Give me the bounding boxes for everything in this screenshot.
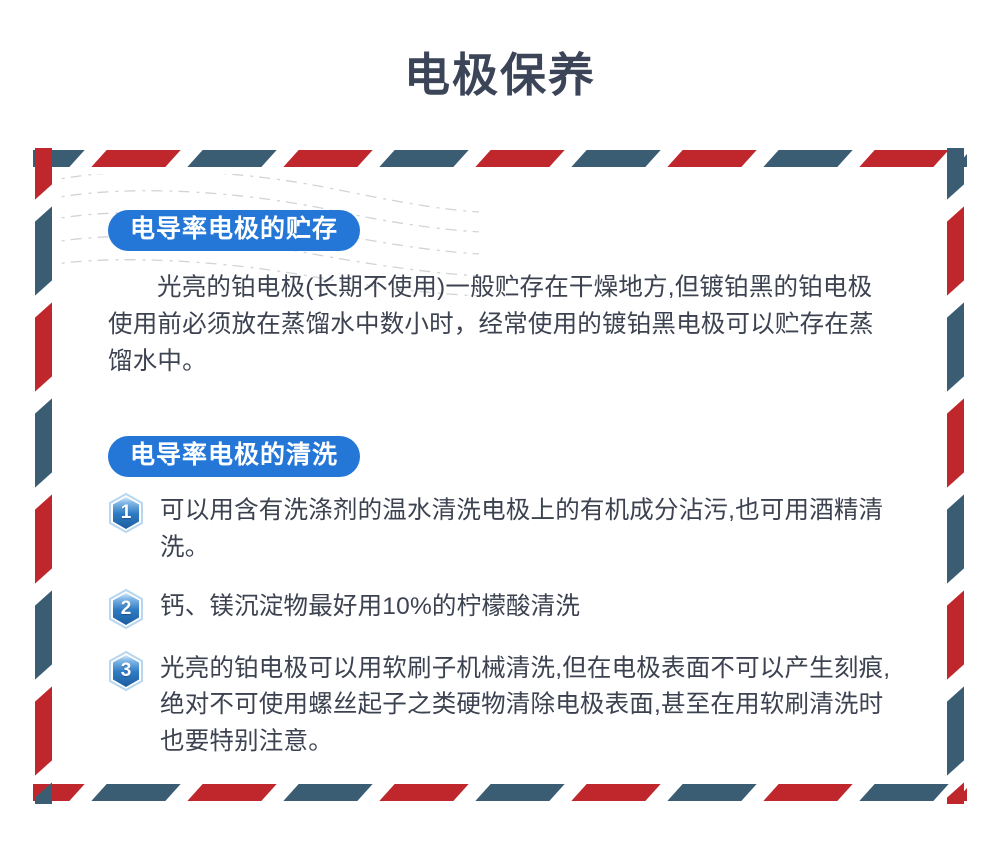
hexagon-number-icon: 2 [108,589,144,629]
hexagon-number-icon: 3 [108,651,144,691]
airmail-stripe [91,784,180,801]
airmail-stripe [947,206,964,295]
section-cleaning-badge: 电导率电极的清洗 [108,436,360,477]
airmail-stripe [35,590,52,679]
airmail-stripe [763,784,852,801]
airmail-stripe [947,302,964,391]
card-inner: 电导率电极的贮存 光亮的铂电极(长期不使用)一般贮存在干燥地方,但镀铂黑的铂电极… [59,174,941,778]
step-text: 钙、镁沉淀物最好用10%的柠檬酸清洗 [160,587,580,626]
airmail-stripe [859,784,948,801]
cleaning-steps-list: 1 可以用含有洗涤剂的温水清洗电极上的有机成分沾污,也可用酒精清洗。 2 [108,491,901,761]
airmail-stripe [947,494,964,583]
airmail-stripe [35,494,52,583]
airmail-stripe [947,686,964,775]
airmail-stripe [667,150,756,167]
step-text: 光亮的铂电极可以用软刷子机械清洗,但在电极表面不可以产生刻痕,绝对不可使用螺丝起… [160,649,901,761]
airmail-stripe [35,302,52,391]
list-item: 3 光亮的铂电极可以用软刷子机械清洗,但在电极表面不可以产生刻痕,绝对不可使用螺… [108,649,901,761]
airmail-stripe [187,150,276,167]
section-storage-badge: 电导率电极的贮存 [108,210,360,251]
airmail-stripe [475,784,564,801]
poster-page: 电极保养 电导率电极的贮存 光亮的铂电极(长期不使用)一般 [0,0,1000,868]
page-title: 电极保养 [0,48,1000,103]
airmail-border-top [33,148,967,170]
airmail-stripe [35,686,52,775]
airmail-stripe [947,782,964,804]
hexagon-number-icon: 1 [108,493,144,533]
airmail-stripe [859,150,948,167]
airmail-stripe [571,784,660,801]
airmail-stripe [763,150,852,167]
airmail-stripe [379,150,468,167]
content-card: 电导率电极的贮存 光亮的铂电极(长期不使用)一般贮存在干燥地方,但镀铂黑的铂电极… [33,148,967,804]
airmail-stripe [379,784,468,801]
airmail-stripe [947,398,964,487]
airmail-stripe [91,150,180,167]
section-storage-paragraph: 光亮的铂电极(长期不使用)一般贮存在干燥地方,但镀铂黑的铂电极使用前必须放在蒸馏… [108,269,901,381]
section-storage: 电导率电极的贮存 光亮的铂电极(长期不使用)一般贮存在干燥地方,但镀铂黑的铂电极… [108,210,901,380]
airmail-border-right [945,148,967,804]
airmail-stripe [35,206,52,295]
airmail-stripe [187,784,276,801]
section-cleaning: 电导率电极的清洗 [108,436,901,761]
airmail-stripe [35,782,52,804]
step-text: 可以用含有洗涤剂的温水清洗电极上的有机成分沾污,也可用酒精清洗。 [160,491,901,567]
step-number: 3 [108,651,144,691]
airmail-stripe [35,398,52,487]
airmail-border-bottom [33,782,967,804]
airmail-stripe [947,590,964,679]
airmail-stripe [283,784,372,801]
airmail-stripe [667,784,756,801]
airmail-stripe [283,150,372,167]
airmail-stripe [571,150,660,167]
step-number: 2 [108,589,144,629]
card-content: 电导率电极的贮存 光亮的铂电极(长期不使用)一般贮存在干燥地方,但镀铂黑的铂电极… [108,210,901,761]
airmail-stripe [35,148,52,200]
airmail-stripe [475,150,564,167]
airmail-border-left [33,148,55,804]
step-number: 1 [108,493,144,533]
airmail-stripe [947,148,964,200]
list-item: 1 可以用含有洗涤剂的温水清洗电极上的有机成分沾污,也可用酒精清洗。 [108,491,901,567]
list-item: 2 钙、镁沉淀物最好用10%的柠檬酸清洗 [108,587,901,629]
